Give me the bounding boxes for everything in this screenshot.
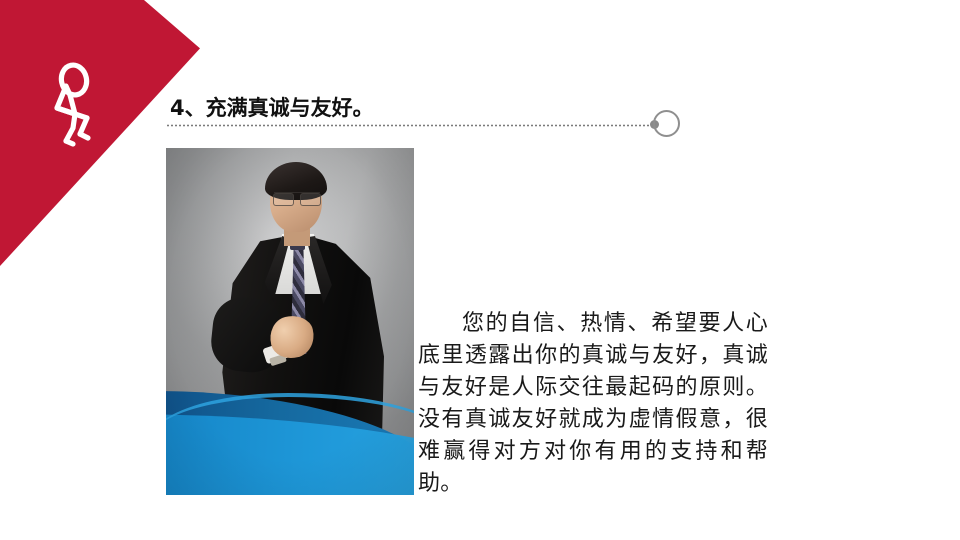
page-title-row: 4、充满真诚与友好。	[166, 94, 706, 128]
slide-canvas: 4、充满真诚与友好。 您的自信、热情、希望要人心底里透露出你的真诚与友好，真诚与…	[0, 0, 960, 540]
photo-vignette	[166, 148, 414, 495]
dotted-rule	[166, 124, 656, 127]
thinker-figure-icon	[44, 62, 100, 148]
businessman-photo	[166, 148, 414, 495]
body-paragraph: 您的自信、热情、希望要人心底里透露出你的真诚与友好，真诚与友好是人际交往最起码的…	[418, 308, 768, 500]
circle-marker-icon	[653, 110, 680, 137]
page-title: 4、充满真诚与友好。	[170, 94, 374, 122]
